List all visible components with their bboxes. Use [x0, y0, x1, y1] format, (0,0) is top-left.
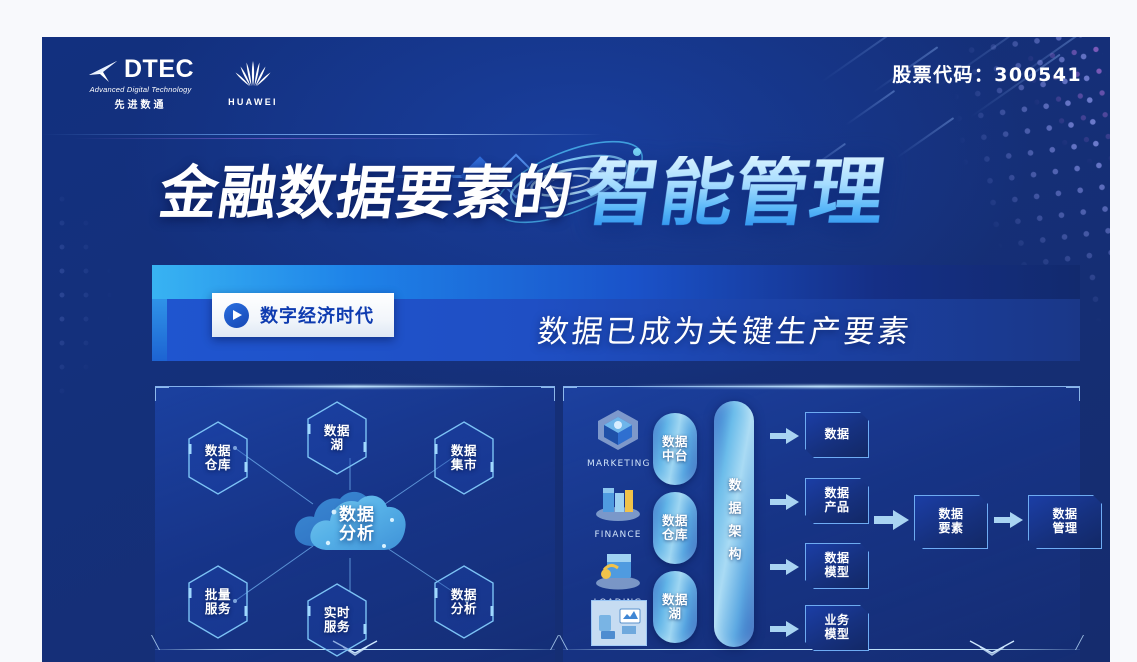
final-label-line2: 要素: [938, 521, 963, 535]
node-label-line2: 仓库: [205, 458, 231, 472]
arrow-right-icon: [770, 558, 800, 576]
section-badge[interactable]: 数字经济时代: [212, 293, 394, 337]
output-business-model[interactable]: 业务模型: [805, 605, 869, 651]
banner-left-edge: [152, 299, 168, 361]
arrow-right-icon: [994, 511, 1024, 529]
output-label-line2: 模型: [824, 565, 849, 579]
huawei-wordmark: HUAWEI: [228, 97, 278, 107]
output-label-line1: 数据: [824, 427, 849, 441]
source-caption: FINANCE: [587, 530, 649, 540]
cloud-label: 数据 分析: [290, 480, 410, 568]
arrow-right-icon: [770, 620, 800, 638]
node-data-lake[interactable]: 数据湖: [304, 400, 370, 476]
node-realtime-service[interactable]: 实时服务: [304, 582, 370, 658]
output-label-line1: 数据: [824, 551, 849, 565]
platform-data-warehouse[interactable]: 数据仓库: [653, 492, 697, 564]
panel-corner-tl: [563, 387, 577, 401]
node-label-line1: 批量: [205, 588, 231, 602]
platform-data-midend[interactable]: 数据中台: [653, 413, 697, 485]
logo-group: DTEC Advanced Digital Technology 先进数通: [87, 57, 278, 111]
stock-code: 股票代码：300541: [892, 60, 1082, 87]
final-data-element[interactable]: 数据要素: [914, 495, 988, 549]
output-label-line2: 模型: [824, 627, 849, 641]
arrow-right-icon: [770, 493, 800, 511]
arrow-right-icon: [770, 427, 800, 445]
pill-label-line2: 仓库: [662, 528, 688, 542]
arrow-right-icon: [874, 509, 910, 531]
source-loading[interactable]: LOADING: [587, 546, 649, 608]
chevron-down-icon: [964, 639, 1020, 662]
dtec-wordmark: DTEC: [124, 57, 194, 82]
node-label-line1: 数据: [451, 588, 477, 602]
node-label-line1: 实时: [324, 606, 350, 620]
platform-data-lake[interactable]: 数据湖: [653, 571, 697, 643]
node-label-line1: 数据: [324, 424, 350, 438]
node-label-line2: 分析: [451, 602, 477, 616]
dtec-chinese-name: 先进数通: [87, 96, 194, 111]
node-batch-service[interactable]: 批量服务: [185, 564, 251, 640]
output-label-line2: 产品: [824, 500, 849, 514]
screenshot-stage: DTEC Advanced Digital Technology 先进数通: [0, 0, 1137, 650]
node-data-analysis[interactable]: 数据分析: [431, 564, 497, 640]
panel-bottom-left-bevel: [559, 635, 590, 650]
output-data-model[interactable]: 数据模型: [805, 543, 869, 589]
source-analytics-thumbnail[interactable]: [591, 600, 647, 646]
main-title: 金融数据要素的 智能管理: [160, 150, 1090, 236]
pill-label-line1: 数据: [662, 593, 688, 607]
panel-corner-tr: [1066, 387, 1080, 401]
presentation-slide: DTEC Advanced Digital Technology 先进数通: [42, 37, 1110, 662]
final-label-line1: 数据: [938, 507, 963, 521]
source-caption: MARKETING: [587, 459, 649, 469]
main-title-part1: 金融数据要素的: [156, 164, 577, 222]
source-finance[interactable]: FINANCE: [587, 478, 649, 540]
pill-label-line1: 数据: [662, 435, 688, 449]
cloud-data-analysis[interactable]: 数据 分析: [290, 480, 410, 568]
source-marketing[interactable]: MARKETING: [587, 407, 649, 469]
node-label-line1: 数据: [205, 444, 231, 458]
final-label-line2: 管理: [1052, 521, 1077, 535]
finance-server-icon: [591, 511, 645, 528]
pill-label-line1: 数据: [662, 514, 688, 528]
title-area: 金融数据要素的 智能管理: [42, 132, 1110, 242]
panel-bottom-right-bevel: [1053, 635, 1084, 650]
node-label-line2: 服务: [324, 620, 350, 634]
main-title-part2: 智能管理: [580, 156, 890, 230]
node-label-line1: 数据: [451, 444, 477, 458]
pill-label-line2: 湖: [668, 607, 681, 621]
final-data-management[interactable]: 数据管理: [1028, 495, 1102, 549]
play-icon: [224, 303, 249, 328]
cloud-label-line1: 数据: [339, 505, 375, 524]
data-architecture-column[interactable]: 数据架构: [714, 401, 754, 647]
dtec-logo: DTEC Advanced Digital Technology 先进数通: [87, 57, 194, 111]
huawei-logo: HUAWEI: [228, 57, 278, 107]
cube-data-icon: [591, 440, 645, 457]
output-data-product[interactable]: 数据产品: [805, 478, 869, 524]
output-label-line1: 业务: [824, 613, 849, 627]
pill-label-line2: 中台: [662, 449, 688, 463]
final-label-line1: 数据: [1052, 507, 1077, 521]
loading-transfer-icon: [591, 579, 645, 596]
banner-headline: 数据已成为关键生产要素: [535, 306, 915, 351]
dtec-arrow-icon: [87, 58, 121, 82]
huawei-flower-icon: [229, 76, 277, 93]
node-label-line2: 服务: [205, 602, 231, 616]
node-label-line2: 湖: [330, 438, 343, 452]
node-label-line2: 集市: [451, 458, 477, 472]
section-badge-label: 数字经济时代: [260, 302, 374, 328]
node-data-mart[interactable]: 数据集市: [431, 420, 497, 496]
node-data-warehouse[interactable]: 数据仓库: [185, 420, 251, 496]
cloud-label-line2: 分析: [339, 524, 375, 543]
dtec-tagline: Advanced Digital Technology: [87, 85, 194, 94]
output-label-line1: 数据: [824, 486, 849, 500]
output-data[interactable]: 数据: [805, 412, 869, 458]
data-architecture-label: 数据架构: [725, 478, 744, 570]
